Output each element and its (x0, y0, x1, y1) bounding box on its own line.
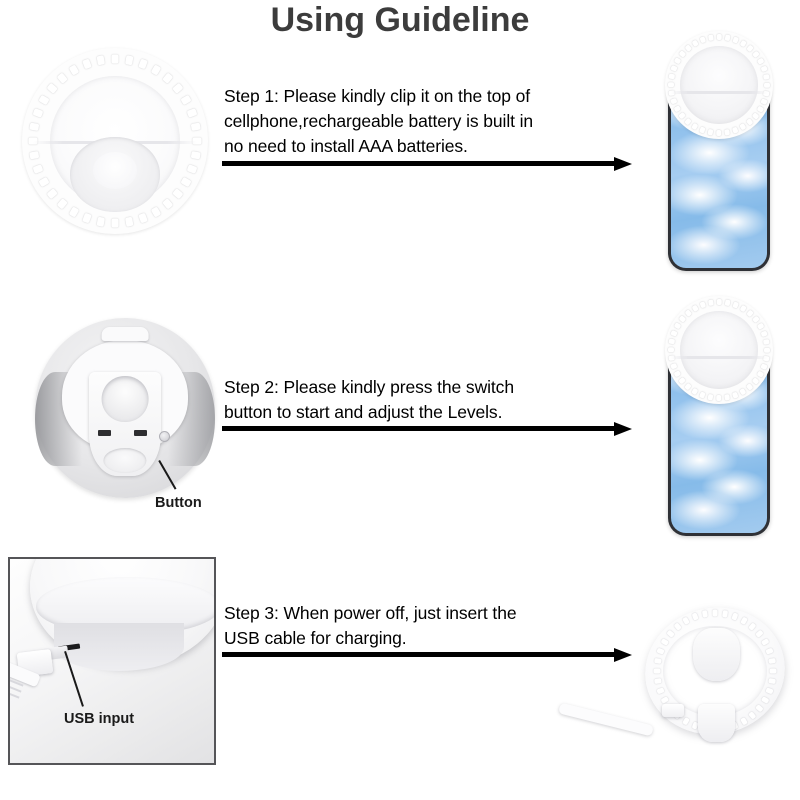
led-bead (699, 127, 705, 134)
led-bead (112, 219, 119, 228)
led-bead (757, 106, 764, 113)
led-bead (692, 612, 699, 620)
button-callout-label: Button (155, 495, 202, 511)
led-bead (668, 348, 674, 353)
led-bead (670, 98, 677, 104)
charging-contact-left (98, 430, 111, 436)
led-bead (765, 648, 773, 655)
led-bead (162, 72, 173, 83)
led-bead (684, 44, 691, 51)
led-bead (722, 610, 728, 618)
led-bead (746, 118, 753, 125)
usb-port-closeup-photo: USB input (8, 557, 216, 765)
led-bead (82, 59, 92, 70)
led-bead (654, 658, 662, 664)
step-1-arrow (222, 157, 632, 171)
led-bead (82, 213, 92, 224)
led-bead (684, 383, 691, 390)
step-2-text: Step 2: Please kindly press the switch b… (224, 375, 624, 425)
led-bead (717, 34, 722, 40)
led-bead (674, 371, 681, 378)
clip-back-tab (698, 704, 734, 742)
led-bead (752, 377, 759, 384)
led-bead (138, 59, 148, 70)
led-bead (752, 50, 759, 57)
arrow-shaft (222, 161, 614, 166)
led-bead (678, 112, 685, 119)
arrow-shaft (222, 426, 614, 431)
led-bead (57, 72, 68, 83)
led-bead (46, 83, 57, 94)
led-bead (731, 612, 738, 620)
led-bead (670, 330, 677, 336)
led-bead (763, 74, 770, 79)
camera-hole (102, 376, 149, 423)
step-3-arrow (222, 648, 632, 662)
led-bead (717, 130, 722, 136)
led-bead (708, 299, 713, 306)
led-bead (682, 616, 690, 625)
clip-top-tab (102, 327, 149, 341)
led-bead (748, 711, 756, 720)
led-bead (670, 65, 677, 71)
led-bead (670, 363, 677, 369)
led-bead (713, 610, 718, 617)
led-bead (38, 95, 49, 106)
led-bead (692, 388, 699, 395)
led-bead (764, 83, 770, 88)
led-bead (38, 177, 49, 188)
led-bead (172, 188, 183, 199)
led-bead (708, 394, 713, 401)
arrow-head (614, 157, 632, 171)
led-bead (668, 74, 675, 79)
led-bead (674, 622, 682, 631)
led-bead (29, 123, 39, 131)
led-bead (708, 129, 713, 136)
led-bead (761, 330, 768, 336)
led-bead (752, 112, 759, 119)
arrow-shaft (222, 652, 614, 657)
led-bead (757, 58, 764, 65)
led-bead (755, 630, 764, 638)
led-bead (765, 687, 773, 694)
led-bead (757, 371, 764, 378)
ring-clip-seam (671, 91, 766, 94)
charging-plug (662, 704, 684, 717)
led-bead (191, 151, 201, 159)
led-bead (740, 305, 747, 312)
led-bead (755, 704, 764, 712)
arrow-head (614, 648, 632, 662)
led-bead (660, 638, 669, 646)
led-bead (684, 309, 691, 316)
led-bead (191, 123, 201, 131)
led-bead (764, 348, 770, 353)
infographic-page: Using Guideline Step 1: Please kindly cl… (0, 0, 800, 800)
led-bead (763, 339, 770, 344)
led-bead (660, 696, 669, 704)
led-bead (708, 34, 713, 41)
led-bead (748, 622, 756, 631)
ring-inner-face (680, 311, 758, 389)
led-bead (33, 164, 44, 174)
led-bead (666, 630, 675, 638)
led-bead (740, 40, 747, 47)
ring-light-back-view (35, 318, 215, 498)
led-bead (761, 98, 768, 104)
led-bead (770, 669, 777, 674)
led-bead (69, 64, 80, 75)
usb-callout-label: USB input (64, 711, 134, 727)
led-bead (699, 392, 705, 399)
led-bead (761, 65, 768, 71)
led-bead (678, 50, 685, 57)
led-bead (674, 106, 681, 113)
led-bead (752, 315, 759, 322)
step-3-text: Step 3: When power off, just insert the … (224, 601, 624, 651)
led-bead (746, 383, 753, 390)
led-bead (162, 198, 173, 209)
led-bead (29, 151, 39, 159)
led-bead (692, 40, 699, 47)
led-bead (125, 217, 133, 227)
led-bead (699, 301, 705, 308)
ring-light-clipped-on-phone-step-2 (665, 296, 773, 404)
led-bead (180, 95, 191, 106)
led-bead (668, 83, 674, 88)
led-bead (69, 206, 80, 217)
led-bead (138, 213, 148, 224)
led-bead (768, 658, 776, 664)
ring-light-clipped-on-phone-step-1 (665, 31, 773, 139)
page-title: Using Guideline (0, 0, 800, 40)
led-bead (699, 36, 705, 43)
led-bead (732, 392, 738, 399)
led-bead (668, 339, 675, 344)
led-bead (761, 638, 770, 646)
led-bead (674, 58, 681, 65)
led-bead (674, 323, 681, 330)
led-bead (57, 198, 68, 209)
led-bead (725, 34, 730, 41)
led-bead (768, 678, 776, 684)
led-bead (684, 118, 691, 125)
led-bead (717, 299, 722, 305)
led-bead (187, 108, 198, 118)
led-bead (151, 64, 162, 75)
ring-inner-face (680, 46, 758, 124)
led-bead (180, 177, 191, 188)
led-bead (678, 377, 685, 384)
led-bead (656, 687, 664, 694)
led-bead (125, 55, 133, 65)
led-bead (692, 123, 699, 130)
led-bead (740, 123, 747, 130)
led-bead (172, 83, 183, 94)
step-2-arrow (222, 422, 632, 436)
led-bead (654, 678, 662, 684)
led-bead (746, 44, 753, 51)
led-bead (761, 363, 768, 369)
led-bead (692, 305, 699, 312)
led-bead (732, 127, 738, 134)
led-bead (46, 188, 57, 199)
led-bead (151, 206, 162, 217)
led-bead (97, 55, 105, 65)
led-bead (761, 696, 770, 704)
led-bead (740, 616, 748, 625)
led-bead (656, 648, 664, 655)
ring-light-angled-with-cable (645, 608, 785, 734)
led-bead (725, 129, 730, 136)
led-bead (654, 669, 661, 674)
arrow-head (614, 422, 632, 436)
led-bead (746, 309, 753, 316)
led-bead (740, 717, 748, 726)
led-bead (740, 388, 747, 395)
led-bead (187, 164, 198, 174)
led-bead (678, 315, 685, 322)
led-bead (112, 55, 119, 64)
led-bead (682, 717, 690, 726)
led-bead (732, 301, 738, 308)
led-bead (725, 299, 730, 306)
led-bead (97, 217, 105, 227)
clip-body (693, 628, 741, 681)
led-bead (757, 323, 764, 330)
ring-clip-seam (671, 356, 766, 359)
charging-contact-right (134, 430, 147, 436)
charging-cable (558, 702, 654, 736)
step-1-text: Step 1: Please kindly clip it on the top… (224, 84, 624, 159)
led-bead (702, 610, 708, 618)
led-bead (725, 394, 730, 401)
led-bead (732, 36, 738, 43)
led-bead (717, 395, 722, 401)
led-bead (33, 108, 44, 118)
ring-light-front-view (22, 48, 208, 234)
